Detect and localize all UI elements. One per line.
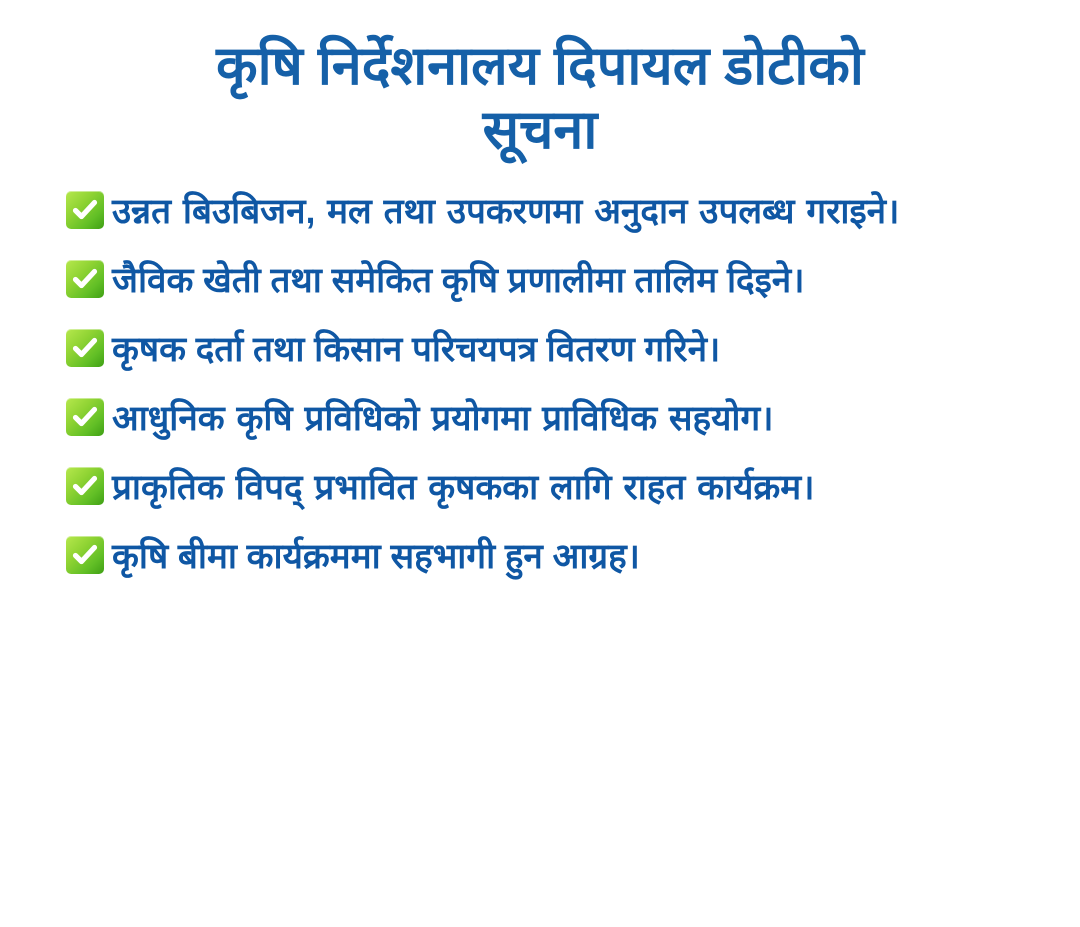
green-check-box-icon — [66, 467, 104, 505]
green-check-box-icon — [66, 191, 104, 229]
list-item-label: आधुनिक कृषि प्रविधिको प्रयोगमा प्राविधिक… — [112, 399, 773, 438]
page-title: कृषि निर्देशनालय दिपायल डोटीको सूचना — [0, 0, 1080, 162]
list-item: कृषि बीमा कार्यक्रममा सहभागी हुन आग्रह। — [0, 533, 1080, 580]
green-check-box-icon — [66, 329, 104, 367]
list-item: प्राकृतिक विपद् प्रभावित कृषकका लागि राह… — [0, 464, 1080, 511]
list-item-label: प्राकृतिक विपद् प्रभावित कृषकका लागि राह… — [112, 468, 815, 507]
green-check-box-icon — [66, 536, 104, 574]
notice-poster: कृषि निर्देशनालय दिपायल डोटीको सूचना उन्… — [0, 0, 1080, 927]
list-item: उन्नत बिउबिजन, मल तथा उपकरणमा अनुदान उपल… — [0, 188, 1080, 235]
list-item-label: उन्नत बिउबिजन, मल तथा उपकरणमा अनुदान उपल… — [112, 192, 899, 231]
notice-list: उन्नत बिउबिजन, मल तथा उपकरणमा अनुदान उपल… — [0, 162, 1080, 580]
green-check-box-icon — [66, 398, 104, 436]
list-item-label: कृषक दर्ता तथा किसान परिचयपत्र वितरण गरि… — [112, 330, 720, 369]
green-check-box-icon — [66, 260, 104, 298]
list-item: आधुनिक कृषि प्रविधिको प्रयोगमा प्राविधिक… — [0, 395, 1080, 442]
list-item: कृषक दर्ता तथा किसान परिचयपत्र वितरण गरि… — [0, 326, 1080, 373]
list-item-label: कृषि बीमा कार्यक्रममा सहभागी हुन आग्रह। — [112, 537, 640, 576]
list-item-label: जैविक खेती तथा समेकित कृषि प्रणालीमा ताल… — [112, 261, 804, 300]
list-item: जैविक खेती तथा समेकित कृषि प्रणालीमा ताल… — [0, 257, 1080, 304]
page-title-line-2: सूचना — [70, 98, 1010, 162]
page-title-line-1: कृषि निर्देशनालय दिपायल डोटीको — [70, 34, 1010, 98]
